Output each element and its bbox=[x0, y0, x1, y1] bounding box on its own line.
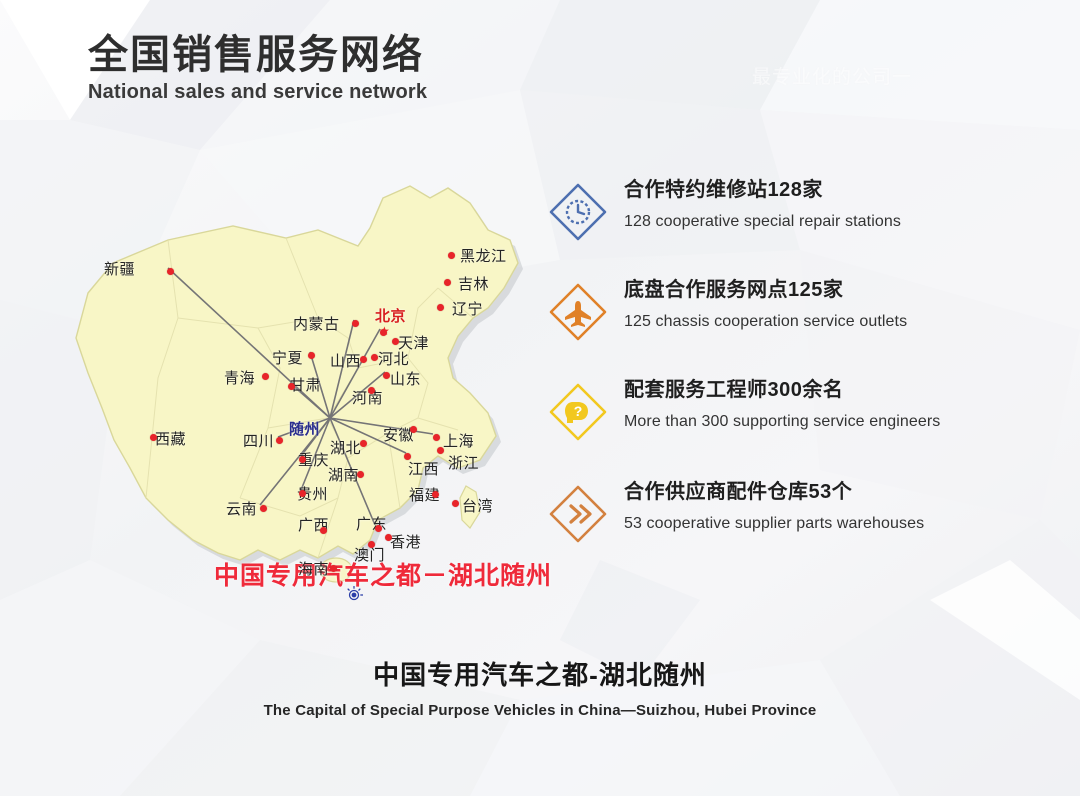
map-label-suizhou: 随州 bbox=[289, 418, 320, 439]
caption-en: The Capital of Special Purpose Vehicles … bbox=[0, 702, 1080, 719]
map-dot-3 bbox=[437, 304, 444, 311]
map-dot-10 bbox=[308, 352, 315, 359]
map-dot-17 bbox=[360, 440, 367, 447]
map-dot-23 bbox=[299, 490, 306, 497]
map-label-5: 北京 bbox=[375, 305, 406, 326]
feature-title-cn-3: 合作供应商配件仓库53个 bbox=[624, 480, 1010, 505]
map-label-19: 上海 bbox=[443, 430, 474, 451]
map-label-2: 吉林 bbox=[458, 273, 489, 294]
map-label-31: 海南 bbox=[298, 558, 329, 579]
slide-root: 全国销售服务网络 National sales and service netw… bbox=[0, 0, 1080, 796]
engineer-head-icon: ? bbox=[546, 380, 610, 444]
map-label-20: 浙江 bbox=[448, 452, 479, 473]
feature-item-0[interactable]: 合作特约维修站128家128 cooperative special repai… bbox=[540, 176, 1010, 262]
map-dot-0 bbox=[167, 268, 174, 275]
map-label-28: 广东 bbox=[356, 513, 387, 534]
map-dot-27 bbox=[320, 527, 327, 534]
header: 全国销售服务网络 National sales and service netw… bbox=[88, 34, 427, 104]
page-title-cn: 全国销售服务网络 bbox=[88, 34, 427, 77]
airplane-icon bbox=[546, 280, 610, 344]
feature-title-en-3: 53 cooperative supplier parts warehouses bbox=[624, 514, 1010, 533]
clock-icon bbox=[546, 180, 610, 244]
map-dot-6 bbox=[392, 338, 399, 345]
map-label-14: 西藏 bbox=[155, 428, 186, 449]
map-dot-28 bbox=[375, 525, 382, 532]
feature-title-cn-1: 底盘合作服务网点125家 bbox=[624, 278, 1010, 303]
page-title-en: National sales and service network bbox=[88, 81, 427, 104]
map-label-10: 宁夏 bbox=[272, 347, 303, 368]
svg-text:?: ? bbox=[574, 403, 583, 419]
map-dot-26 bbox=[260, 505, 267, 512]
map-label-25: 台湾 bbox=[462, 495, 493, 516]
china-map-svg bbox=[18, 168, 548, 618]
map-dot-9 bbox=[383, 372, 390, 379]
bottom-caption: 中国专用汽车之都-湖北随州 The Capital of Special Pur… bbox=[0, 655, 1080, 719]
map-dot-14 bbox=[150, 434, 157, 441]
map-label-22: 湖南 bbox=[328, 464, 359, 485]
map-label-8: 山西 bbox=[330, 350, 361, 371]
map-dot-31 bbox=[330, 565, 337, 572]
map-label-9: 山东 bbox=[390, 368, 421, 389]
beijing-star-icon: ★ bbox=[379, 326, 390, 337]
map-dot-18 bbox=[410, 426, 417, 433]
map-dot-19 bbox=[433, 434, 440, 441]
map-dot-12 bbox=[288, 383, 295, 390]
map-dot-24 bbox=[432, 491, 439, 498]
map-label-29: 香港 bbox=[390, 531, 421, 552]
map-dot-15 bbox=[276, 437, 283, 444]
map-dot-2 bbox=[444, 279, 451, 286]
map-dot-7 bbox=[371, 354, 378, 361]
map-dot-25 bbox=[452, 500, 459, 507]
feature-title-en-1: 125 chassis cooperation service outlets bbox=[624, 312, 1010, 331]
map-label-21: 江西 bbox=[408, 458, 439, 479]
map-dot-16 bbox=[299, 456, 306, 463]
feature-item-3[interactable]: 合作供应商配件仓库53个53 cooperative supplier part… bbox=[540, 478, 1010, 564]
feature-text-2: 配套服务工程师300余名More than 300 supporting ser… bbox=[624, 378, 1010, 431]
china-map: 中国专用汽车之都－湖北随州 新疆黑龙江吉林辽宁内蒙古北京天津河北山西山东宁夏青海… bbox=[18, 168, 548, 618]
map-label-17: 湖北 bbox=[330, 437, 361, 458]
map-dot-30 bbox=[368, 541, 375, 548]
map-dot-13 bbox=[368, 387, 375, 394]
double-chevron-right-icon bbox=[546, 482, 610, 546]
map-dot-22 bbox=[357, 471, 364, 478]
feature-text-3: 合作供应商配件仓库53个53 cooperative supplier part… bbox=[624, 480, 1010, 533]
map-label-1: 黑龙江 bbox=[460, 245, 507, 266]
map-label-15: 四川 bbox=[243, 430, 274, 451]
map-label-3: 辽宁 bbox=[452, 298, 483, 319]
feature-item-2[interactable]: ?配套服务工程师300余名More than 300 supporting se… bbox=[540, 376, 1010, 462]
map-dot-4 bbox=[352, 320, 359, 327]
feature-title-cn-2: 配套服务工程师300余名 bbox=[624, 378, 1010, 403]
map-dot-20 bbox=[437, 447, 444, 454]
map-label-0: 新疆 bbox=[104, 258, 135, 279]
map-label-26: 云南 bbox=[226, 498, 257, 519]
watermark-text: 最专业化的公司一 bbox=[752, 62, 912, 89]
feature-title-en-2: More than 300 supporting service enginee… bbox=[624, 412, 1010, 431]
map-label-11: 青海 bbox=[224, 367, 255, 388]
feature-item-1[interactable]: 底盘合作服务网点125家125 chassis cooperation serv… bbox=[540, 276, 1010, 362]
feature-title-en-0: 128 cooperative special repair stations bbox=[624, 212, 1010, 231]
feature-text-1: 底盘合作服务网点125家125 chassis cooperation serv… bbox=[624, 278, 1010, 331]
feature-title-cn-0: 合作特约维修站128家 bbox=[624, 178, 1010, 203]
map-dot-1 bbox=[448, 252, 455, 259]
map-dot-8 bbox=[360, 356, 367, 363]
map-dot-11 bbox=[262, 373, 269, 380]
map-dot-21 bbox=[404, 453, 411, 460]
map-dot-29 bbox=[385, 534, 392, 541]
feature-text-0: 合作特约维修站128家128 cooperative special repai… bbox=[624, 178, 1010, 231]
map-label-7: 河北 bbox=[378, 348, 409, 369]
caption-cn: 中国专用汽车之都-湖北随州 bbox=[0, 655, 1080, 692]
map-label-4: 内蒙古 bbox=[293, 313, 340, 334]
